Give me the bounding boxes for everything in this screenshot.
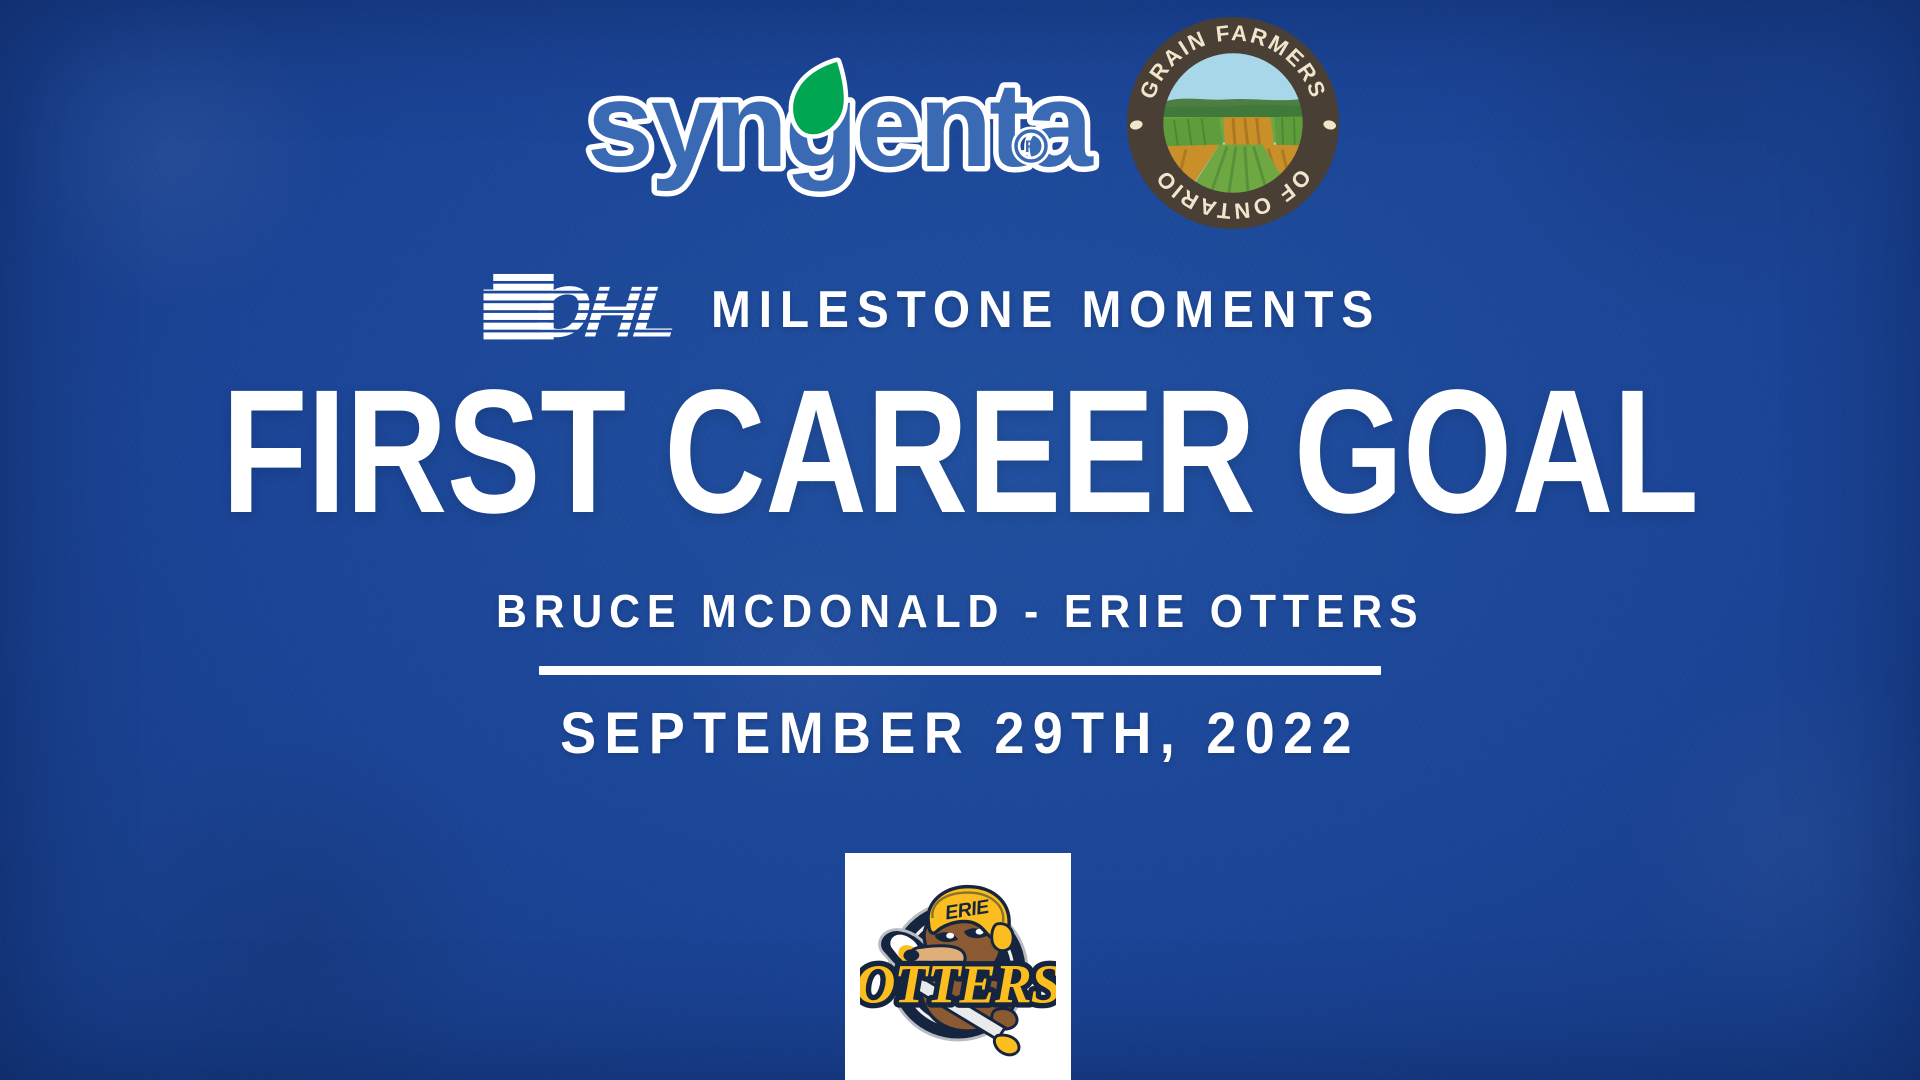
registered-trademark-icon: R <box>1016 131 1046 161</box>
otters-script-text: OTTERS OTTERS <box>860 953 1056 1014</box>
divider-rule <box>539 666 1381 675</box>
erie-otters-logo: ERIE OTTERS OTTERS <box>860 869 1056 1065</box>
grain-farmers-of-ontario-logo: GRAIN FARMERS OF ONTARIO <box>1125 15 1341 231</box>
team-logo-plate: ERIE OTTERS OTTERS <box>845 853 1071 1080</box>
milestone-moments-title: MILESTONE MOMENTS <box>711 284 1381 336</box>
player-and-team: BRUCE MCDONALD - ERIE OTTERS <box>496 588 1424 634</box>
sponsor-row: syngenta syngenta R <box>0 8 1920 238</box>
headline: FIRST CAREER GOAL <box>192 372 1728 534</box>
poster-content: syngenta syngenta R <box>0 0 1920 1080</box>
syngenta-logo: syngenta syngenta R <box>579 58 1079 188</box>
svg-text:R: R <box>1025 137 1037 156</box>
detail-block: BRUCE MCDONALD - ERIE OTTERS SEPTEMBER 2… <box>0 588 1920 763</box>
ohl-logo: OHL <box>481 272 677 348</box>
milestone-header: OHL MILESTONE MOMENTS <box>0 272 1920 348</box>
svg-text:OHL: OHL <box>529 272 676 348</box>
svg-text:OTTERS: OTTERS <box>860 953 1056 1014</box>
milestone-date: SEPTEMBER 29TH, 2022 <box>560 705 1360 763</box>
ohl-letters: OHL <box>529 272 676 348</box>
